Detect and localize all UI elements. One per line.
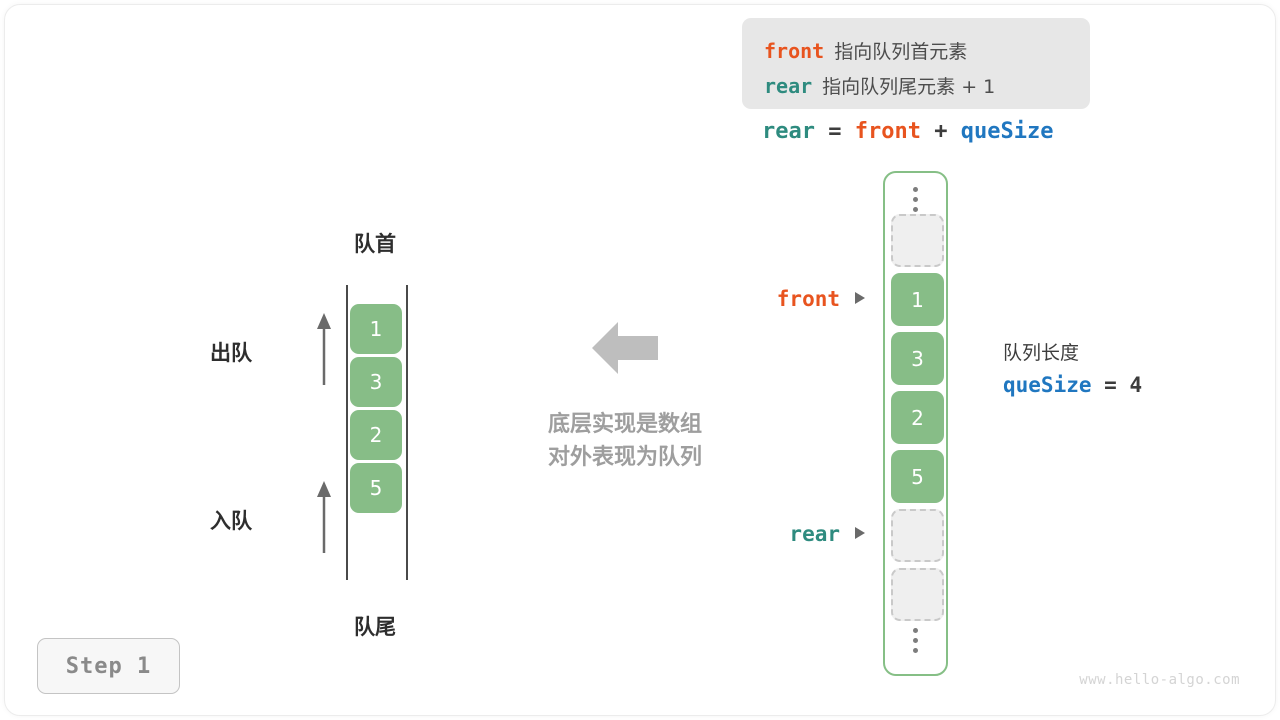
queue-cell-1[interactable]: 3: [350, 357, 402, 407]
ellipsis-bottom-icon: [885, 628, 946, 653]
quesize-annotation: 队列长度 queSize = 4: [1003, 342, 1142, 396]
formula-plus: +: [934, 119, 947, 144]
array-cell-2[interactable]: 3: [891, 332, 944, 385]
step-badge: Step 1: [37, 638, 180, 694]
left-arrow-icon: [592, 320, 658, 376]
queue-tail-label: 队尾: [300, 611, 450, 641]
center-caption: 底层实现是数组 对外表现为队列: [514, 408, 736, 474]
center-caption-line-1: 底层实现是数组: [514, 408, 736, 441]
legend-term-front: front: [764, 39, 824, 63]
array-cell-5[interactable]: [891, 509, 944, 562]
legend-desc-rear: 指向队列尾元素 + 1: [822, 76, 995, 98]
legend-line-front: front指向队列首元素: [764, 41, 967, 62]
formula-term-front: front: [855, 119, 921, 144]
array-cell-3[interactable]: 2: [891, 391, 944, 444]
legend-desc-front: 指向队列首元素: [834, 41, 967, 63]
enqueue-up-arrow-icon: [316, 481, 332, 553]
watermark: www.hello-algo.com: [1010, 672, 1240, 688]
array-cell-1[interactable]: 1: [891, 273, 944, 326]
queue-rail-left: [346, 285, 348, 580]
dequeue-up-arrow-icon: [316, 313, 332, 385]
formula-term-quesize: queSize: [961, 119, 1054, 144]
formula-equals: =: [828, 119, 841, 144]
legend-line-rear: rear指向队列尾元素 + 1: [764, 76, 995, 97]
queue-cell-2[interactable]: 2: [350, 410, 402, 460]
array-cell-4[interactable]: 5: [891, 450, 944, 503]
ellipsis-top-icon: [885, 187, 946, 212]
enqueue-label: 入队: [162, 505, 252, 535]
pointer-label-rear: rear: [700, 522, 840, 546]
legend-term-rear: rear: [764, 74, 812, 98]
queue-rail-right: [406, 285, 408, 580]
pointer-arrow-front-icon: [855, 292, 865, 304]
formula-rear-equals-front-plus-quesize: rear = front + queSize: [762, 120, 1053, 144]
quesize-equals: =: [1104, 373, 1117, 397]
pointer-label-front: front: [700, 287, 840, 311]
dequeue-label: 出队: [162, 337, 252, 367]
quesize-value: 4: [1129, 373, 1142, 397]
pointer-arrow-rear-icon: [855, 527, 865, 539]
quesize-expression: queSize = 4: [1003, 374, 1142, 396]
diagram-canvas: front指向队列首元素 rear指向队列尾元素 + 1 rear = fron…: [0, 0, 1280, 720]
quesize-title: 队列长度: [1003, 342, 1142, 364]
array-cell-0[interactable]: [891, 214, 944, 267]
queue-head-label: 队首: [300, 228, 450, 258]
formula-lhs: rear: [762, 119, 815, 144]
quesize-name: queSize: [1003, 373, 1092, 397]
queue-cell-3[interactable]: 5: [350, 463, 402, 513]
array-container: 1 3 2 5: [883, 171, 948, 676]
center-caption-line-2: 对外表现为队列: [514, 441, 736, 474]
legend-box: front指向队列首元素 rear指向队列尾元素 + 1: [742, 18, 1090, 109]
queue-cell-0[interactable]: 1: [350, 304, 402, 354]
array-cell-6[interactable]: [891, 568, 944, 621]
